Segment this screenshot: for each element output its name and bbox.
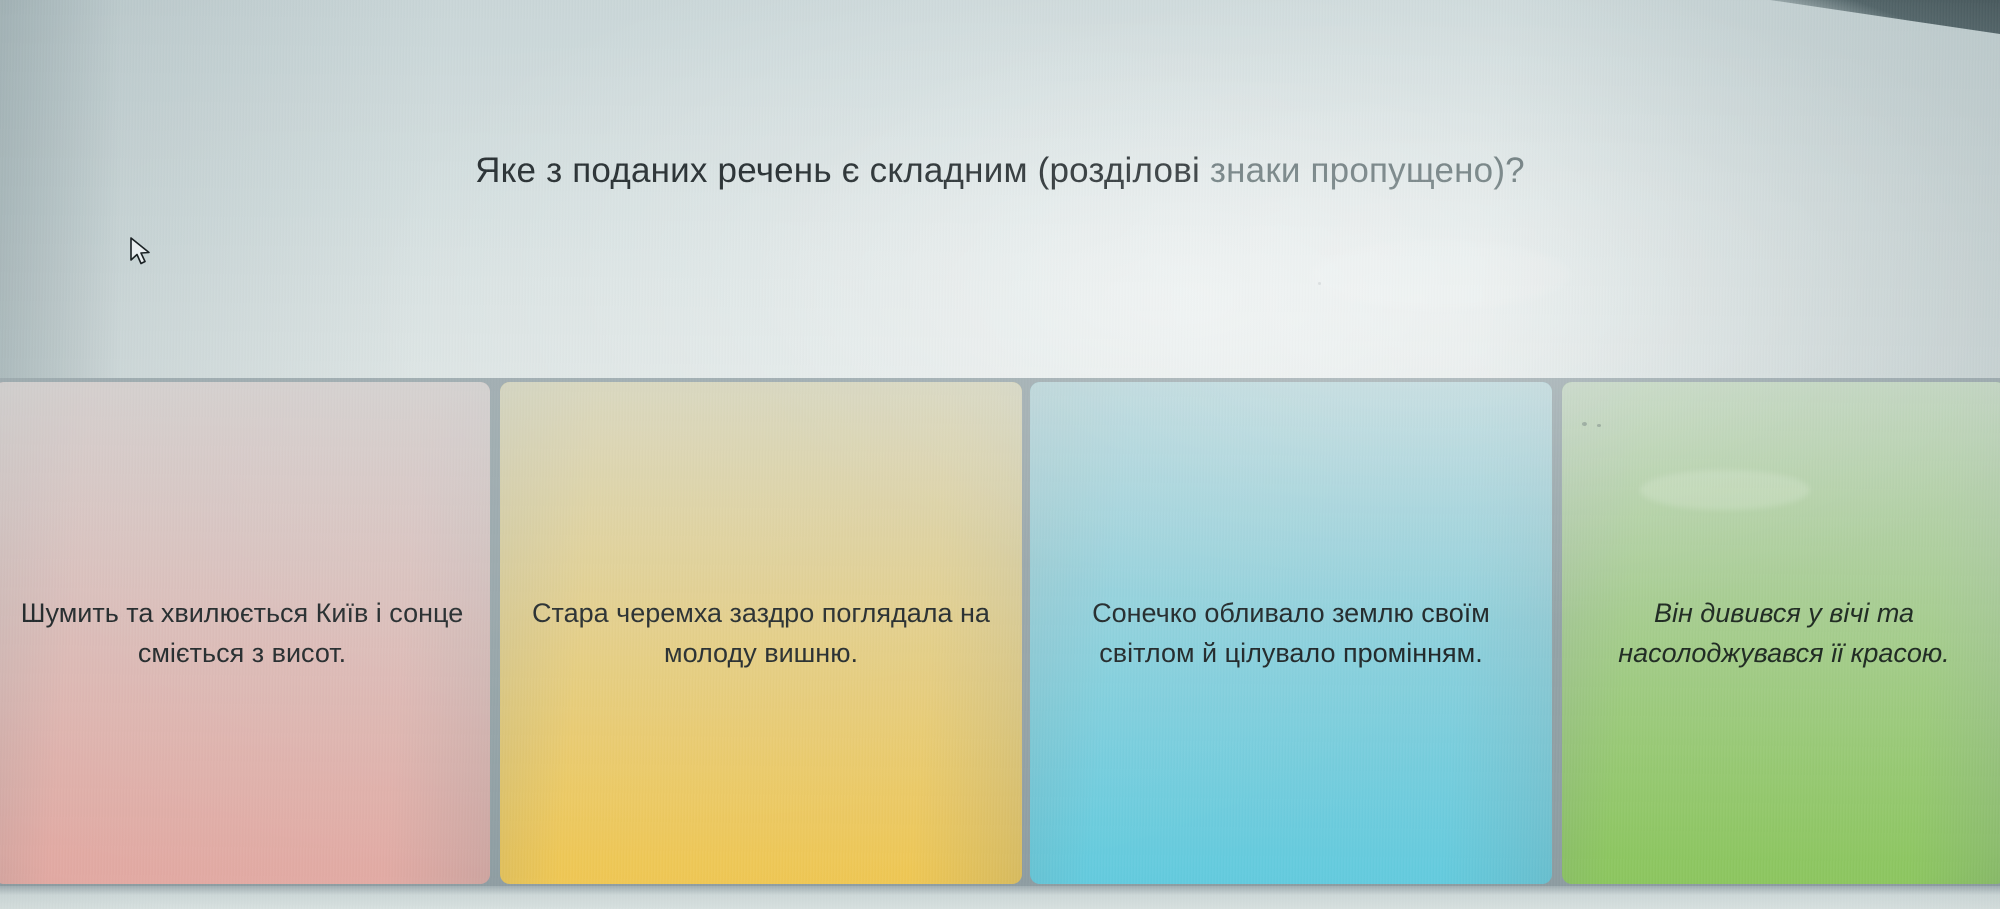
answer-option-d[interactable]: Він дивився у вічі та насолоджувався її … xyxy=(1562,382,2000,884)
answer-option-c[interactable]: Сонечко обливало землю своїм світлом й ц… xyxy=(1030,382,1552,884)
answer-option-b[interactable]: Стара черемха заздро поглядала на молоду… xyxy=(500,382,1022,884)
mouse-pointer-icon xyxy=(128,236,154,268)
screen-bezel-corner xyxy=(1770,0,2000,34)
bottom-strip xyxy=(0,886,2000,909)
answer-option-d-label: Він дивився у вічі та насолоджувався її … xyxy=(1578,593,1990,673)
question-text: Яке з поданих речень є складним (розділо… xyxy=(0,148,2000,194)
quiz-screen: Яке з поданих речень є складним (розділо… xyxy=(0,0,2000,909)
answer-option-c-label: Сонечко обливало землю своїм світлом й ц… xyxy=(1046,593,1536,673)
answer-option-a[interactable]: Шумить та хвилюється Київ і сонце смієть… xyxy=(0,382,490,884)
answer-option-a-label: Шумить та хвилюється Київ і сонце смієть… xyxy=(10,593,474,673)
answer-option-b-label: Стара черемха заздро поглядала на молоду… xyxy=(516,593,1006,673)
answer-options-container: Шумить та хвилюється Київ і сонце смієть… xyxy=(0,378,2000,886)
